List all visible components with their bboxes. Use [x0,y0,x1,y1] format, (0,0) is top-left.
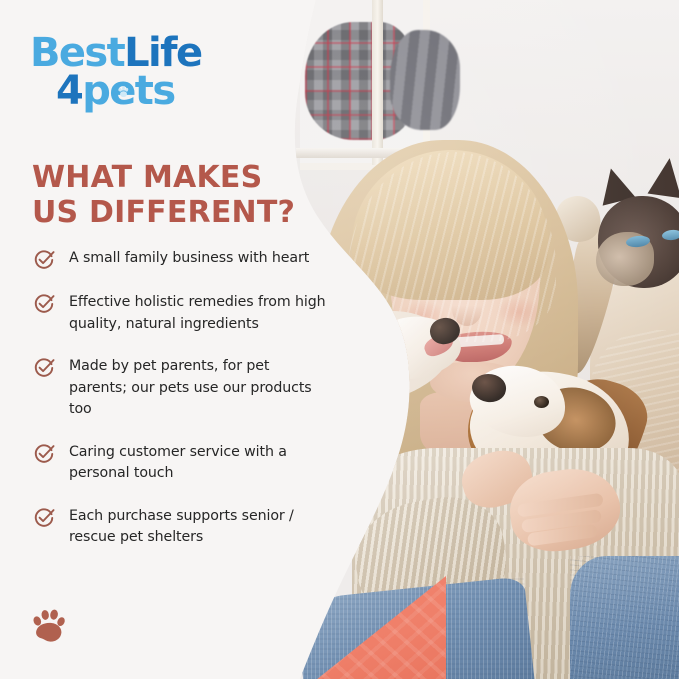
list-item: Made by pet parents, for pet parents; ou… [33,356,333,421]
list-item: A small family business with heart [33,248,333,271]
marketing-infographic: BestLife 4pets WHAT MAKES US DIFFERENT? [0,0,679,679]
page-title: WHAT MAKES US DIFFERENT? [32,160,295,230]
list-item-label: A small family business with heart [69,248,309,270]
logo-line-one: BestLife [30,34,230,72]
list-item-label: Effective holistic remedies from high qu… [69,292,331,335]
check-circle-icon [33,443,55,465]
list-item-label: Each purchase supports senior / rescue p… [69,506,331,549]
logo-line-two: 4pets [56,72,230,110]
check-circle-icon [33,507,55,529]
paw-print-icon [30,606,68,648]
logo-paw-print-icon [117,86,130,99]
list-item: Each purchase supports senior / rescue p… [33,506,333,549]
cat-ear-right [648,156,679,198]
logo-text-four: 4 [56,68,82,114]
benefits-list: A small family business with heart Effec… [33,248,333,570]
plaid-blanket-secondary [390,30,460,130]
check-circle-icon [33,249,55,271]
dog-one-eye [368,348,384,361]
page-title-line-1: WHAT MAKES [32,160,295,195]
dog-two-eye [534,396,549,408]
brand-logo: BestLife 4pets [30,34,230,110]
check-circle-icon [33,293,55,315]
list-item: Effective holistic remedies from high qu… [33,292,333,335]
denim-texture-right [570,556,679,679]
list-item-label: Caring customer service with a personal … [69,442,331,485]
content-column: BestLife 4pets WHAT MAKES US DIFFERENT? [0,0,330,679]
check-circle-icon [33,357,55,379]
list-item-label: Made by pet parents, for pet parents; ou… [69,356,331,421]
list-item: Caring customer service with a personal … [33,442,333,485]
shelf-post [372,0,383,165]
page-title-line-2: US DIFFERENT? [32,195,295,230]
jeans-right [570,556,679,679]
